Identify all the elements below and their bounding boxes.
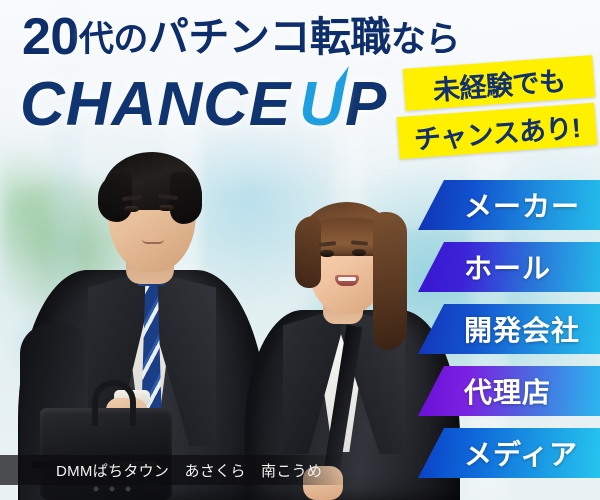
businessman-eye-right [159, 205, 174, 211]
category-label-media: メディア [464, 433, 578, 473]
headline-keyword: パチンコ転職 [148, 14, 391, 60]
headline-number: 20 [22, 8, 79, 66]
logotype-up-u: U [299, 70, 345, 139]
category-label-hall: ホール [464, 247, 551, 287]
credit-text: DMMぱちタウン あさくら 南こうめ [0, 460, 322, 481]
businesswoman-hair-left [295, 216, 321, 288]
category-button-agency[interactable]: 代理店 [418, 366, 600, 416]
pachinko-career-banner-ad[interactable]: 20代のパチンコ転職なら CHANCEUP 未経験でも チャンスあり! メーカー… [0, 0, 600, 500]
businessman-smile [142, 239, 164, 244]
logotype-up-p: P [345, 70, 387, 139]
headline: 20代のパチンコ転職なら [22, 14, 460, 63]
businesswoman-eye-right [352, 249, 366, 256]
businessman-eye-left [124, 206, 139, 212]
businesswoman-eye-left [320, 250, 334, 257]
category-button-maker[interactable]: メーカー [418, 180, 600, 230]
briefcase-rivets [90, 485, 134, 494]
category-label-agency: 代理店 [464, 371, 551, 411]
ribbon-no-experience-label: 未経験でも [431, 59, 566, 108]
category-button-media[interactable]: メディア [418, 428, 600, 478]
credit-band: DMMぱちタウン あさくら 南こうめ [0, 455, 352, 485]
logotype-chance: CHANCE [20, 70, 291, 139]
category-button-hall[interactable]: ホール [418, 242, 600, 292]
category-button-development-company[interactable]: 開発会社 [418, 304, 600, 354]
category-label-maker: メーカー [464, 185, 580, 225]
headline-suffix-1: 代の [79, 20, 148, 59]
headline-suffix-2: なら [391, 20, 460, 59]
businesswoman-ponytail [373, 212, 407, 350]
job-category-list: メーカー ホール 開発会社 代理店 メディア [418, 180, 600, 490]
category-label-development-company: 開発会社 [464, 309, 580, 349]
chance-up-logotype: CHANCEUP [20, 72, 387, 138]
businesswoman-smile [335, 275, 359, 286]
photo-businessman [18, 160, 268, 500]
briefcase-handle [92, 380, 136, 426]
